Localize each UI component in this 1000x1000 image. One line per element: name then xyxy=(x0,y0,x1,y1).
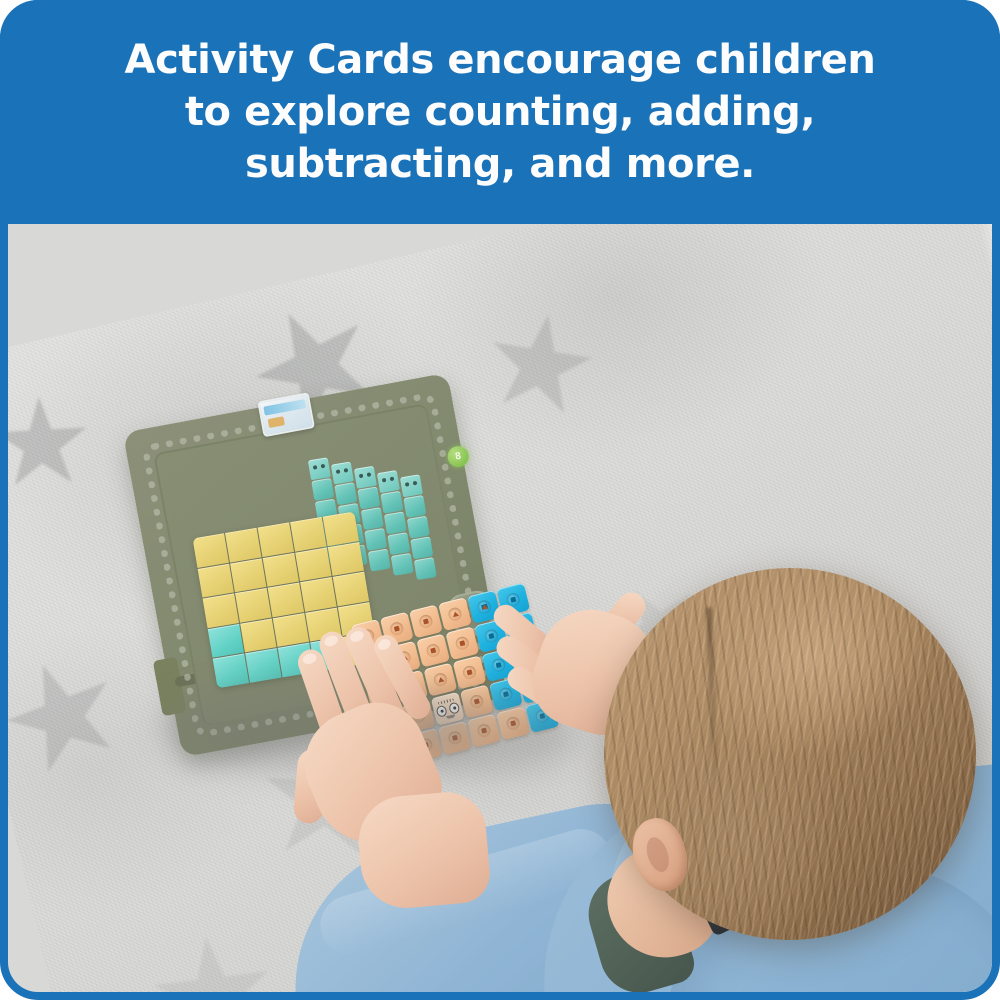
headline-banner: Activity Cards encourage children to exp… xyxy=(0,0,1000,224)
promo-card: Activity Cards encourage children to exp… xyxy=(0,0,1000,1000)
headline-text: Activity Cards encourage children to exp… xyxy=(85,34,916,190)
snap-cube[interactable] xyxy=(445,626,479,660)
wrist xyxy=(355,789,492,912)
product-lifestyle-photo: ★ ★ ★ ★ ★ ★ ★ 8 25 xyxy=(8,224,992,992)
snap-cube[interactable] xyxy=(438,597,472,631)
